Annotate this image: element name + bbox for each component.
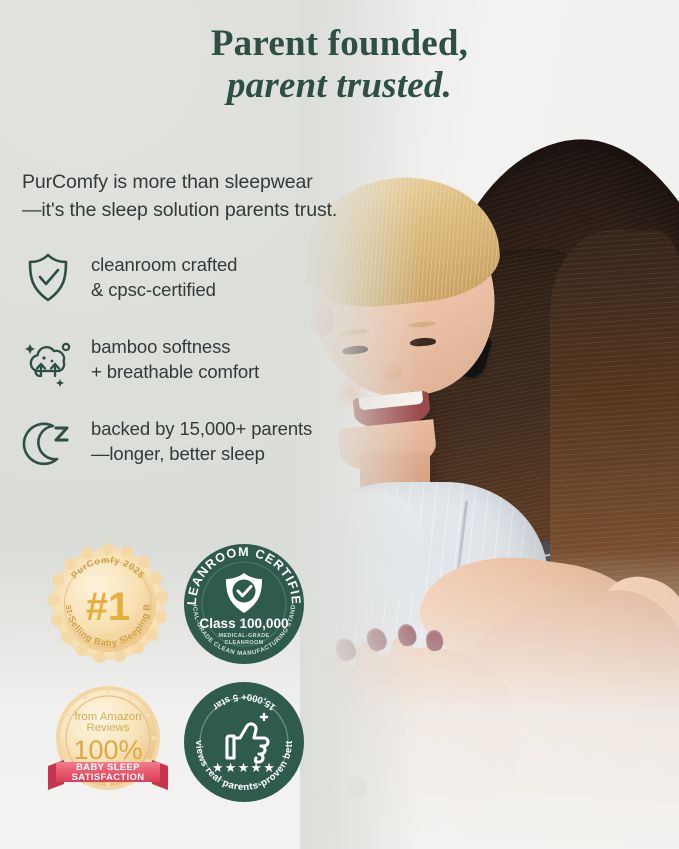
feature-line-2: & cpsc-certified: [91, 278, 237, 303]
feature-line-1: bamboo softness: [91, 335, 259, 360]
feature-list: cleanroom crafted & cpsc-certified: [22, 250, 362, 496]
badge-center-value: #1: [86, 585, 131, 629]
feature-item-cleanroom: cleanroom crafted & cpsc-certified: [22, 250, 362, 306]
badge-center-value: Class 100,000: [199, 616, 288, 631]
bamboo-breathable-icon: [22, 332, 74, 388]
feature-text-cleanroom: cleanroom crafted & cpsc-certified: [91, 250, 237, 303]
intro-line-1: PurComfy is more than sleepwear: [22, 168, 382, 196]
badge-top-line-2: Reviews: [86, 722, 129, 734]
satisfaction-badge: from Amazon Reviews 100% BABY SLEEP SATI…: [46, 680, 170, 804]
trust-badge-grid: PurComfy 2025 Best-Selling Baby Sleeping…: [46, 542, 308, 804]
moon-sleep-icon: [22, 414, 74, 470]
feature-line-2: + breathable comfort: [91, 360, 259, 385]
cleanroom-certified-badge: CLEANROOM CERTIFIED MEDICAL-GRADE CLEAN …: [182, 542, 306, 666]
best-selling-badge: PurComfy 2025 Best-Selling Baby Sleeping…: [46, 542, 170, 666]
feature-line-1: cleanroom crafted: [91, 253, 237, 278]
reviews-badge: 15,000+ 5 star reviews real parents-prov…: [182, 680, 306, 804]
feature-line-1: backed by 15,000+ parents: [91, 417, 312, 442]
feature-text-bamboo: bamboo softness + breathable comfort: [91, 332, 259, 385]
shield-check-icon: [22, 250, 74, 306]
headline-line-2: parent trusted.: [0, 64, 679, 108]
feature-text-sleep: backed by 15,000+ parents —longer, bette…: [91, 414, 312, 467]
feature-item-bamboo: bamboo softness + breathable comfort: [22, 332, 362, 388]
page-title: Parent founded, parent trusted.: [0, 24, 679, 107]
badge-stars: ★★★★★: [212, 761, 276, 776]
headline-line-1: Parent founded,: [0, 24, 679, 64]
intro-line-2: —it's the sleep solution parents trust.: [22, 196, 382, 224]
intro-copy: PurComfy is more than sleepwear —it's th…: [22, 168, 382, 224]
feature-item-sleep: backed by 15,000+ parents —longer, bette…: [22, 414, 362, 470]
marketing-image: Parent founded, parent trusted. PurComfy…: [0, 0, 679, 849]
badge-sub-line-2: CLEANROOM: [225, 640, 264, 646]
feature-line-2: —longer, better sleep: [91, 442, 312, 467]
badge-sub-line-1: MEDICAL-GRADE: [218, 633, 269, 639]
ribbon-line-2: SATISFACTION: [72, 771, 145, 782]
